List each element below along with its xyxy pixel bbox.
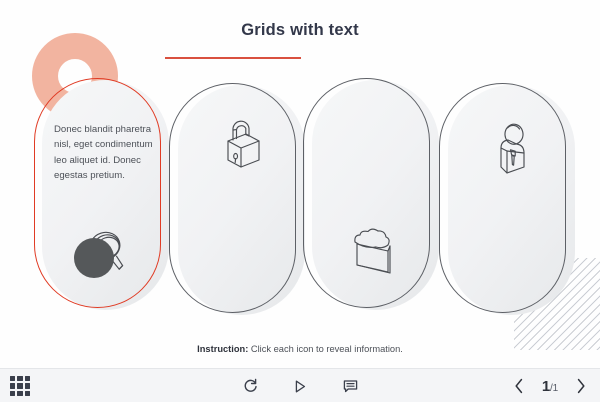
grid-card-4[interactable] [448, 85, 575, 315]
slide-stage: Grids with text Donec blandit pharetra n… [0, 0, 600, 368]
instruction-text: Click each icon to reveal information. [251, 344, 403, 354]
page-total: /1 [550, 383, 558, 394]
grid-card-1[interactable]: Donec blandit pharetra nisl, eget condim… [42, 80, 169, 310]
chevron-right-icon [576, 378, 586, 394]
grid-card-3[interactable] [312, 80, 439, 310]
folder-icon[interactable] [343, 222, 409, 282]
title-underline-rule [165, 57, 301, 59]
instruction-label: Instruction: [197, 344, 248, 354]
page-current: 1 [542, 378, 550, 395]
play-icon [293, 379, 307, 394]
instruction-line: Instruction: Click each icon to reveal i… [0, 344, 600, 354]
slide-canvas: Grids with text Donec blandit pharetra n… [0, 0, 600, 402]
card-3-icon-slot[interactable] [336, 212, 416, 292]
magnifier-shadow-blob [74, 238, 114, 278]
card-2-icon-slot[interactable] [202, 107, 282, 187]
replay-icon [243, 378, 258, 394]
comment-icon [343, 379, 358, 393]
person-icon[interactable] [481, 115, 543, 179]
chevron-left-icon [514, 378, 524, 394]
page-indicator: 1/1 [542, 378, 558, 395]
card-1-text: Donec blandit pharetra nisl, eget condim… [54, 122, 158, 183]
padlock-icon[interactable] [210, 115, 274, 179]
player-toolbar: 1/1 [0, 368, 600, 402]
play-button[interactable] [289, 375, 311, 397]
replay-button[interactable] [239, 375, 261, 397]
playback-controls [0, 369, 600, 402]
card-4-icon-slot[interactable] [472, 107, 552, 187]
pagination-controls: 1/1 [512, 369, 588, 402]
grid-card-2[interactable] [178, 85, 305, 315]
card-1-icon-slot[interactable] [66, 212, 146, 292]
page-title: Grids with text [0, 21, 600, 40]
comment-button[interactable] [339, 375, 361, 397]
prev-page-button[interactable] [512, 377, 526, 395]
next-page-button[interactable] [574, 377, 588, 395]
